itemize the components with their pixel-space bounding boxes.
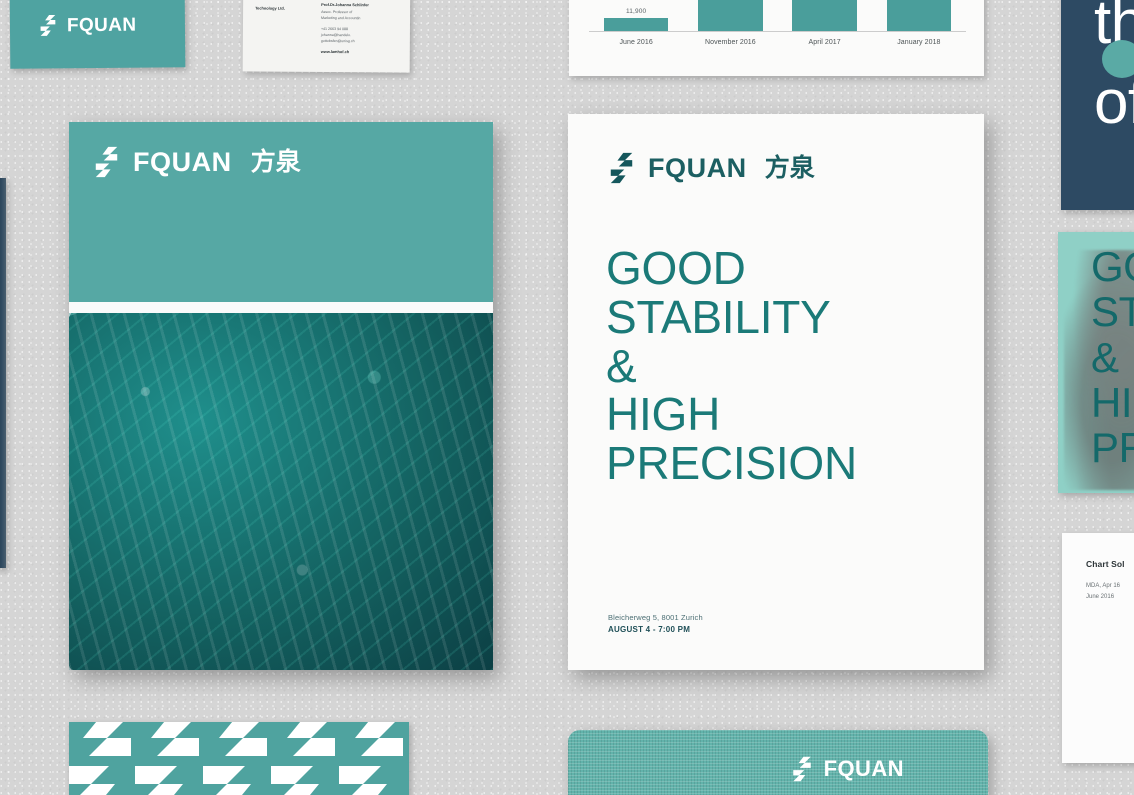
chart-bar-group	[877, 0, 960, 31]
chart-plot-area: 11,90034,000	[589, 0, 966, 32]
logo-wordmark: FQUAN	[648, 155, 747, 182]
logo-chinese-name: 方泉	[765, 156, 815, 181]
business-card-right-column: Prof.Dr.Johanna Schlinfer Assoc. Profess…	[321, 2, 403, 56]
mint-headline-line-2: ST	[1091, 289, 1134, 334]
mint-headline-line-5: PR	[1091, 425, 1134, 470]
mint-headline-line-4: HI	[1091, 380, 1134, 425]
navy-edge-panel	[0, 178, 6, 568]
brochure-header: FQUAN 方泉	[69, 122, 493, 302]
logo-wordmark: FQUAN	[824, 758, 904, 780]
sheet-title: Chart Sol	[1086, 559, 1125, 569]
mint-poster-panel: GOST&HIPR	[1058, 232, 1134, 493]
chart-x-axis: June 2016November 2016April 2017January …	[589, 32, 966, 46]
chart-bar-group: 11,900	[595, 0, 678, 31]
teal-business-card: FQUAN	[10, 0, 186, 69]
fquan-arrows-logo-icon	[607, 152, 636, 184]
poster-headline-line-2: STABILITY	[606, 293, 966, 342]
repeating-fquan-pattern-icon	[69, 722, 409, 795]
white-business-card: Technology Ltd. Prof.Dr.Johanna Schlinfe…	[243, 0, 411, 73]
mint-headline-line-1: GO	[1091, 244, 1134, 289]
poster-headline-line-5: PRECISION	[606, 439, 966, 488]
circuit-board-photo	[69, 313, 493, 670]
logo-chinese-name: 方泉	[251, 150, 301, 175]
poster-header: FQUAN 方泉	[607, 152, 815, 184]
chart-x-tick-label: January 2018	[877, 39, 960, 46]
poster-headline-line-4: HIGH	[606, 390, 966, 439]
chart-report-sheet: 11,90034,000 June 2016November 2016April…	[569, 0, 984, 76]
logo-wordmark: FQUAN	[67, 15, 137, 35]
sheet-subtitle-line-2: June 2016	[1086, 592, 1120, 603]
event-poster: FQUAN 方泉 GOODSTABILITY&HIGHPRECISION Ble…	[568, 114, 984, 670]
logo-wordmark: FQUAN	[133, 149, 232, 176]
poster-address: Bleicherweg 5, 8001 Zurich	[608, 612, 703, 624]
logo-lockup: FQUAN 方泉	[92, 146, 493, 178]
company-line: Technology Ltd.	[255, 6, 317, 13]
logo-pattern-strip	[69, 722, 409, 795]
fquan-arrows-logo-icon	[790, 756, 814, 782]
branding-mockup-canvas: FQUAN Technology Ltd. Prof.Dr.Johanna Sc…	[0, 0, 1134, 795]
fquan-arrows-logo-icon	[92, 146, 121, 178]
bar-chart: 11,90034,000 June 2016November 2016April…	[589, 0, 966, 60]
sheet-subtitle: MDA, Apr 16 June 2016	[1086, 581, 1120, 603]
chart-value-label: 11,900	[626, 8, 646, 15]
chart-x-tick-label: June 2016	[595, 39, 678, 46]
navy-poster-panel: th of	[1061, 0, 1134, 210]
navy-text-line-2: of	[1094, 72, 1134, 134]
sheet-subtitle-line-1: MDA, Apr 16	[1086, 581, 1120, 592]
logo-lockup: FQUAN	[790, 756, 904, 782]
chart-bar	[887, 0, 952, 31]
logo-lockup: FQUAN	[38, 13, 185, 36]
logo-lockup: FQUAN 方泉	[607, 152, 815, 184]
poster-headline-line-1: GOOD	[606, 244, 966, 293]
poster-footer: Bleicherweg 5, 8001 Zurich AUGUST 4 - 7:…	[608, 612, 703, 637]
chart-x-tick-label: November 2016	[689, 39, 772, 46]
contact-website: www.lamhof.ch	[321, 49, 403, 56]
business-card-left-column: Technology Ltd.	[255, 6, 317, 13]
fquan-arrows-logo-icon	[38, 14, 58, 36]
chart-bar-group: 34,000	[689, 0, 772, 31]
poster-headline-line-3: &	[606, 342, 966, 391]
chart-bar	[698, 0, 763, 31]
poster-date-time: AUGUST 4 - 7:00 PM	[608, 624, 703, 637]
fabric-pouch-item: FQUAN	[568, 730, 988, 795]
chart-bar	[604, 18, 669, 31]
poster-headline: GOODSTABILITY&HIGHPRECISION	[606, 244, 966, 488]
chart-x-tick-label: April 2017	[783, 39, 866, 46]
chart-solution-sheet: Chart Sol MDA, Apr 16 June 2016	[1062, 533, 1134, 763]
mint-headline-line-3: &	[1091, 335, 1134, 380]
brochure-cover: FQUAN 方泉	[69, 122, 493, 670]
chart-bar-group	[783, 0, 866, 31]
chart-bar	[792, 0, 857, 31]
mint-poster-headline: GOST&HIPR	[1091, 244, 1134, 471]
